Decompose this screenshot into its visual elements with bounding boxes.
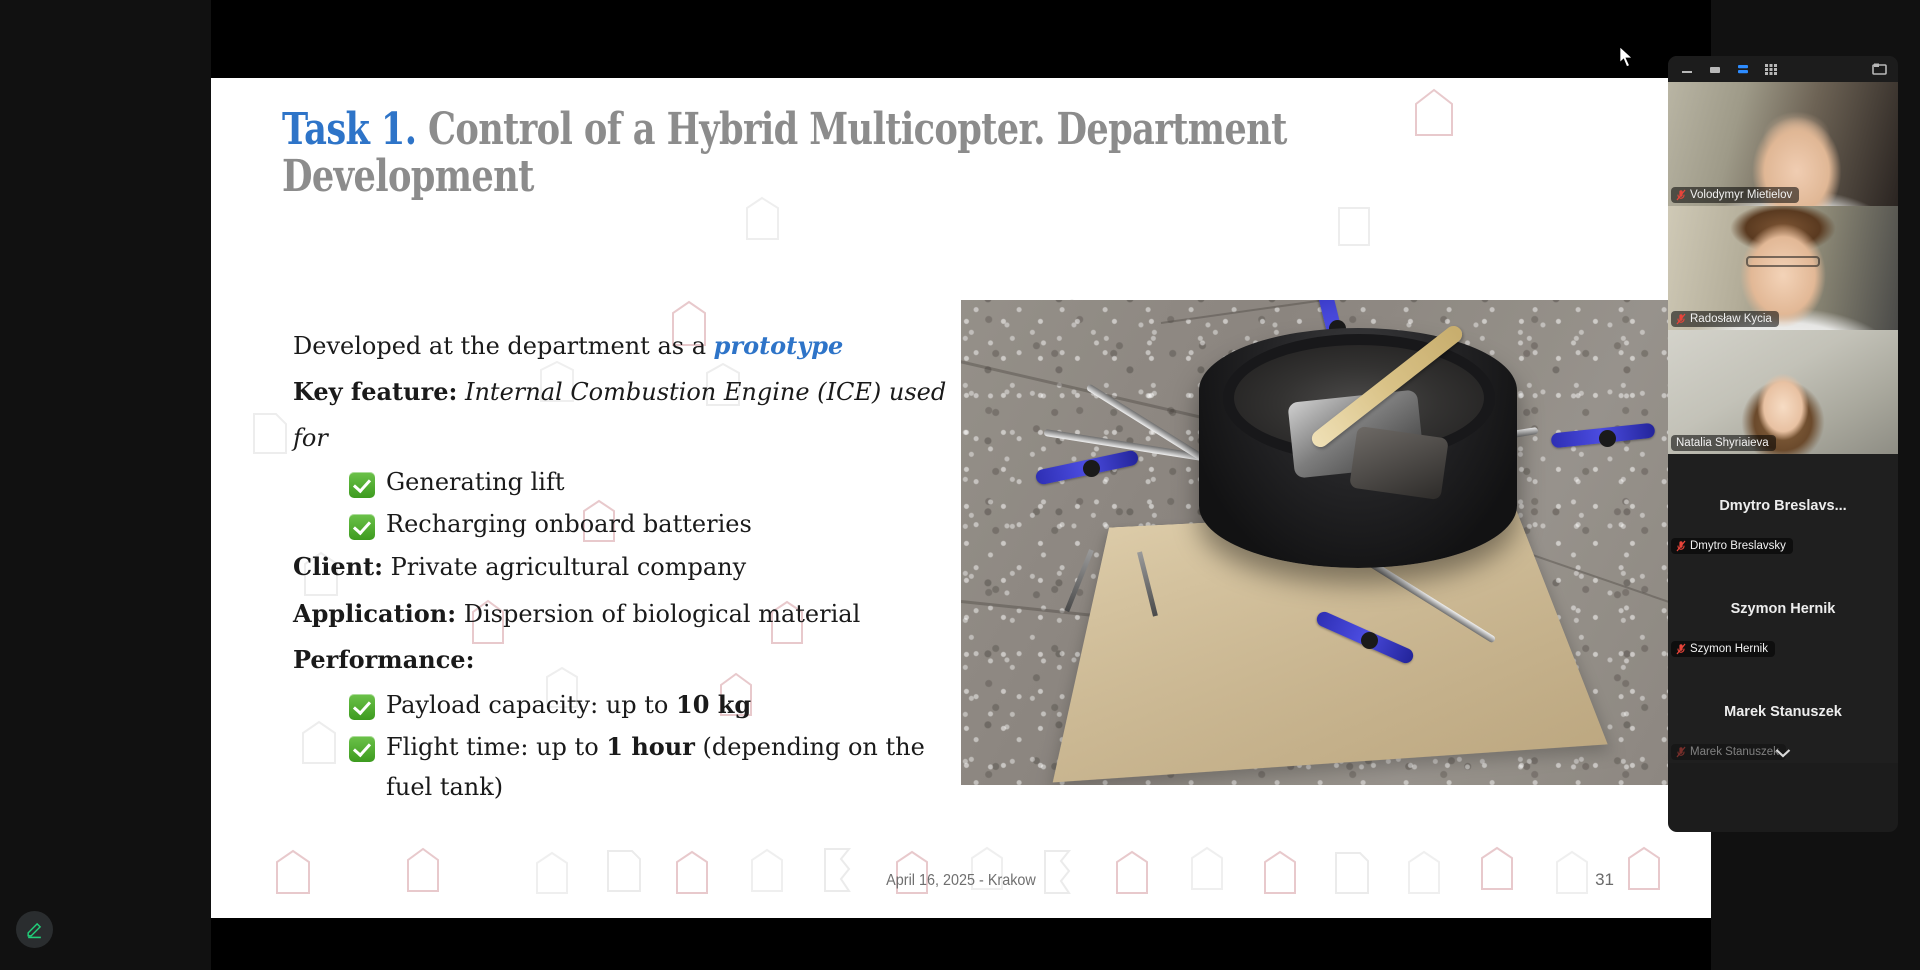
decorative-shape: [741, 196, 785, 240]
flight-prefix: Flight time: up to: [386, 733, 606, 761]
engine-block: [1349, 426, 1449, 500]
list-item-label: Generating lift: [386, 463, 564, 503]
participant-name-badge: Szymon Hernik: [1671, 641, 1775, 657]
title-accent: Task 1.: [282, 104, 416, 155]
participant-name-badge: Dmytro Breslavsky: [1671, 538, 1793, 554]
list-item: Recharging onboard batteries: [293, 505, 953, 545]
gallery-view-icon[interactable]: [1763, 62, 1778, 77]
video-tile[interactable]: Radosław Kycia: [1668, 206, 1898, 330]
audio-only-tile[interactable]: Marek Stanuszek Marek Stanuszek: [1668, 660, 1898, 763]
audio-only-tile[interactable]: Szymon Hernik Szymon Hernik: [1668, 557, 1898, 660]
intro-emphasis: prototype: [714, 331, 844, 360]
check-icon: [349, 472, 375, 498]
participant-name-badge: Radosław Kycia: [1671, 311, 1779, 327]
participant-name: Natalia Shyriaieva: [1676, 437, 1769, 449]
participant-display-name: Szymon Hernik: [1731, 601, 1836, 617]
list-item-label: Payload capacity: up to 10 kg: [386, 685, 751, 726]
rotor-hub: [1083, 460, 1100, 477]
performance-label: Performance:: [293, 645, 474, 674]
key-feature-label: Key feature:: [293, 377, 457, 406]
list-item-label: Flight time: up to 1 hour (depending on …: [386, 727, 953, 807]
check-icon: [349, 514, 375, 540]
decorative-shape: [1406, 88, 1462, 136]
mic-off-icon: [1676, 189, 1686, 201]
check-icon: [349, 736, 375, 762]
participant-name-badge: Marek Stanuszek: [1671, 744, 1786, 760]
shared-screen-stage: Task 1. Control of a Hybrid Multicopter.…: [211, 0, 1711, 970]
rotor-hub: [1599, 430, 1616, 447]
video-tile[interactable]: Volodymyr Mietielov: [1668, 82, 1898, 206]
intro-line: Developed at the department as a prototy…: [293, 323, 953, 369]
participants-panel[interactable]: Volodymyr Mietielov Radosław Kycia: [1668, 56, 1898, 832]
participant-name-badge: Natalia Shyriaieva: [1671, 435, 1776, 451]
participant-name: Szymon Hernik: [1690, 643, 1768, 655]
mic-off-icon: [1676, 540, 1686, 552]
application-value: Dispersion of biological material: [456, 600, 860, 628]
application-line: Application: Dispersion of biological ma…: [293, 591, 953, 637]
participant-name: Radosław Kycia: [1690, 313, 1772, 325]
decorative-shape: [1331, 200, 1379, 246]
mic-off-icon: [1676, 746, 1686, 758]
mic-off-icon: [1676, 643, 1686, 655]
screen-share-window: Task 1. Control of a Hybrid Multicopter.…: [0, 0, 1920, 970]
slide-footer: April 16, 2025 - Krakow: [286, 872, 1636, 890]
participant-name-badge: Volodymyr Mietielov: [1671, 187, 1799, 203]
slide-body: Developed at the department as a prototy…: [293, 323, 953, 807]
panel-toolbar: [1668, 56, 1898, 82]
participant-name: Volodymyr Mietielov: [1690, 189, 1792, 201]
list-item-label: Recharging onboard batteries: [386, 505, 752, 545]
chevron-down-icon[interactable]: [1775, 748, 1792, 759]
application-label: Application:: [293, 599, 456, 628]
payload-prefix: Payload capacity: up to: [386, 691, 676, 719]
mouse-cursor: [1619, 46, 1634, 68]
minimize-icon[interactable]: [1679, 62, 1694, 77]
title-rest: Control of a Hybrid Multicopter. Departm…: [282, 104, 1287, 202]
slide-page-number: 31: [1595, 870, 1614, 890]
client-value: Private agricultural company: [383, 553, 746, 581]
intro-text: Developed at the department as a: [293, 332, 714, 360]
pencil-icon: [25, 920, 44, 939]
flight-value: 1 hour: [606, 732, 695, 761]
audio-only-tile[interactable]: Dmytro Breslavs... Dmytro Breslavsky: [1668, 454, 1898, 557]
page-title: Task 1. Control of a Hybrid Multicopter.…: [282, 106, 1306, 200]
client-label: Client:: [293, 552, 383, 581]
check-icon: [349, 694, 375, 720]
list-item: Payload capacity: up to 10 kg: [293, 685, 953, 726]
video-tile-active-speaker[interactable]: Natalia Shyriaieva: [1668, 330, 1898, 454]
video-tile-list: Volodymyr Mietielov Radosław Kycia: [1668, 82, 1898, 763]
participant-display-name: Dmytro Breslavs...: [1719, 498, 1846, 514]
payload-value: 10 kg: [676, 690, 751, 719]
speaker-view-icon[interactable]: [1735, 62, 1750, 77]
list-item: Flight time: up to 1 hour (depending on …: [293, 727, 953, 807]
drone-photo: [961, 300, 1698, 785]
key-feature-line: Key feature: Internal Combustion Engine …: [293, 369, 953, 461]
client-line: Client: Private agricultural company: [293, 544, 953, 590]
decorative-shape: [249, 410, 291, 454]
list-item: Generating lift: [293, 463, 953, 503]
annotate-button[interactable]: [16, 911, 53, 948]
picture-in-picture-icon[interactable]: [1872, 62, 1887, 77]
presentation-slide[interactable]: Task 1. Control of a Hybrid Multicopter.…: [211, 78, 1711, 918]
performance-line: Performance:: [293, 637, 953, 683]
glasses-detail: [1746, 256, 1820, 267]
restore-window-icon[interactable]: [1707, 62, 1722, 77]
rotor-hub: [1361, 632, 1378, 649]
participant-display-name: Marek Stanuszek: [1724, 704, 1842, 720]
participant-name: Dmytro Breslavsky: [1690, 540, 1786, 552]
participant-name: Marek Stanuszek: [1690, 746, 1779, 758]
mic-off-icon: [1676, 313, 1686, 325]
